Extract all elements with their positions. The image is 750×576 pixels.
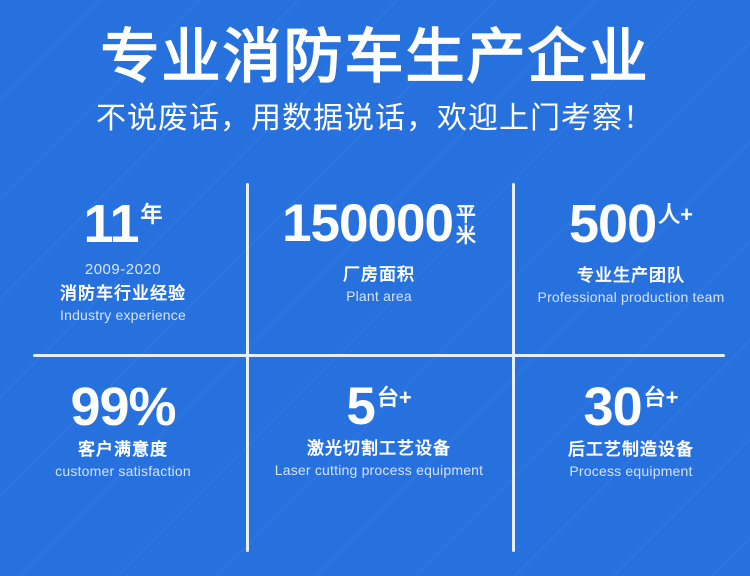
page-subtitle: 不说废话，用数据说话，欢迎上门考察！ bbox=[0, 90, 750, 135]
stat-value: 30 台+ bbox=[584, 382, 679, 434]
stat-label-cn: 厂房面积 bbox=[343, 264, 415, 285]
stat-value: 11 年 bbox=[83, 199, 162, 251]
stat-unit-top: 平 bbox=[456, 205, 476, 226]
stat-number: 99% bbox=[70, 382, 175, 434]
stat-label-en: Industry experience bbox=[60, 307, 186, 325]
stat-label-en: customer satisfaction bbox=[55, 463, 191, 481]
stat-unit: 年 bbox=[139, 199, 163, 226]
stat-label-cn: 专业生产团队 bbox=[577, 265, 685, 286]
stat-label-en: Professional production team bbox=[538, 289, 725, 307]
stat-value: 500 人+ bbox=[569, 199, 693, 251]
stat-unit: 人+ bbox=[656, 199, 693, 226]
stat-value: 150000 平 米 bbox=[282, 199, 476, 250]
poster-header: 专业消防车生产企业 不说废话，用数据说话，欢迎上门考察！ bbox=[0, 0, 750, 135]
stat-cell-process-equipment: 30 台+ 后工艺制造设备 Process equipment bbox=[512, 354, 750, 555]
stat-number: 11 bbox=[83, 199, 138, 251]
stat-number: 500 bbox=[569, 199, 656, 251]
stat-label-cn: 后工艺制造设备 bbox=[568, 439, 694, 460]
stat-unit: 台+ bbox=[642, 382, 679, 409]
stat-value: 99% bbox=[70, 382, 175, 434]
stat-year-range: 2009-2020 bbox=[85, 261, 161, 279]
stat-value: 5 台+ bbox=[346, 382, 411, 433]
stat-cell-industry-experience: 11 年 2009-2020 消防车行业经验 Industry experien… bbox=[0, 183, 246, 354]
stat-label-en: Process equipment bbox=[569, 463, 692, 481]
stat-cell-plant-area: 150000 平 米 厂房面积 Plant area bbox=[246, 183, 512, 354]
stat-label-cn: 激光切割工艺设备 bbox=[307, 438, 451, 459]
stat-cell-customer-satisfaction: 99% 客户满意度 customer satisfaction bbox=[0, 354, 246, 555]
page-title: 专业消防车生产企业 bbox=[0, 0, 750, 90]
stat-unit-bottom: 米 bbox=[456, 226, 476, 247]
stat-label-en: Plant area bbox=[346, 288, 412, 306]
stats-grid: 11 年 2009-2020 消防车行业经验 Industry experien… bbox=[0, 183, 750, 555]
stat-number: 30 bbox=[584, 382, 642, 434]
stat-unit: 台+ bbox=[375, 382, 412, 409]
stat-label-en: Laser cutting process equipment bbox=[275, 462, 484, 480]
stat-number: 5 bbox=[346, 382, 374, 433]
stat-cell-laser-cutting-equipment: 5 台+ 激光切割工艺设备 Laser cutting process equi… bbox=[246, 354, 512, 555]
stat-cell-production-team: 500 人+ 专业生产团队 Professional production te… bbox=[512, 183, 750, 354]
stat-number: 150000 bbox=[282, 199, 453, 250]
stat-unit: 平 米 bbox=[453, 199, 476, 247]
stat-label-cn: 客户满意度 bbox=[78, 439, 168, 460]
promo-poster: 专业消防车生产企业 不说废话，用数据说话，欢迎上门考察！ 11 年 2009-2… bbox=[0, 0, 750, 576]
stat-label-cn: 消防车行业经验 bbox=[60, 283, 186, 304]
